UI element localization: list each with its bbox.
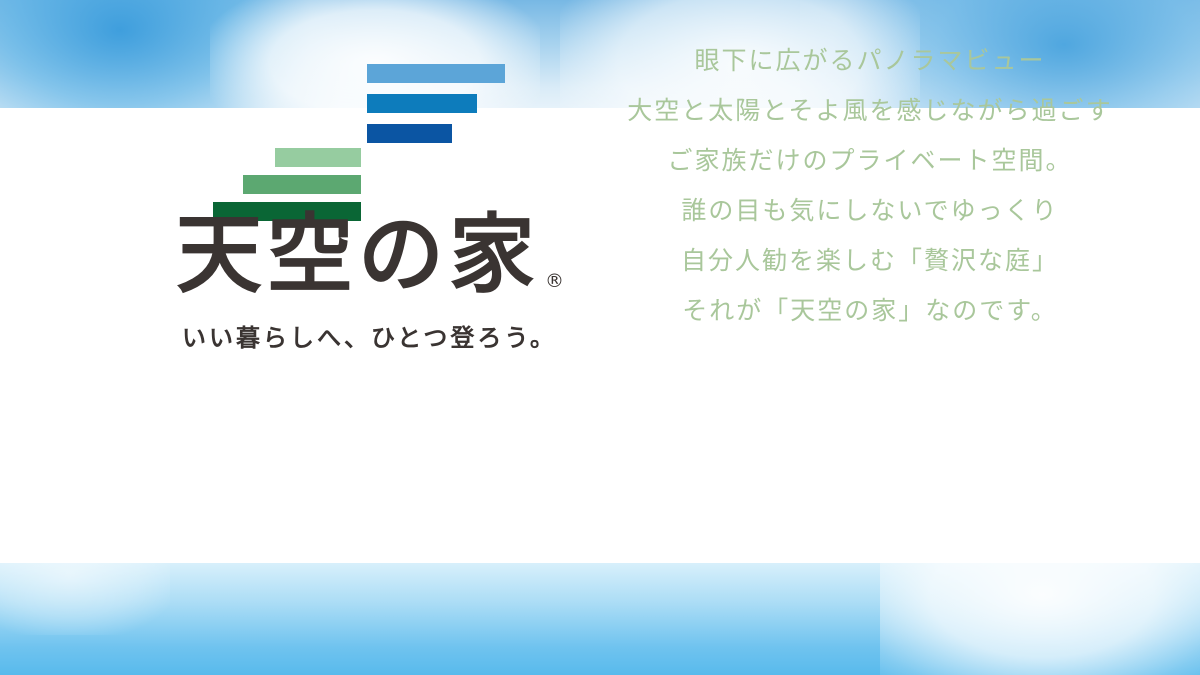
slide-canvas: 天空の家 ® いい暮らしへ、ひとつ登ろう。 眼下に広がるパノラマビュー 大空と太… <box>0 0 1200 675</box>
logo-stair-mark <box>175 60 535 208</box>
message-line: ご家族だけのプライベート空間。 <box>620 148 1120 173</box>
registered-trademark-icon: ® <box>545 272 564 291</box>
message-line: 自分人勧を楽しむ「贅沢な庭」 <box>620 248 1120 273</box>
logo-tagline: いい暮らしへ、ひとつ登ろう。 <box>182 318 570 353</box>
content-layout: 天空の家 ® いい暮らしへ、ひとつ登ろう。 眼下に広がるパノラマビュー 大空と太… <box>0 0 1200 675</box>
logo-bar-green-light <box>275 148 361 167</box>
message-line: 大空と太陽とそよ風を感じながら過ごす <box>620 98 1120 123</box>
message-line: 誰の目も気にしないでゆっくり <box>620 198 1120 223</box>
message-copy: 眼下に広がるパノラマビュー 大空と太陽とそよ風を感じながら過ごす ご家族だけのプ… <box>620 48 1120 323</box>
brand-logo: 天空の家 ® いい暮らしへ、ひとつ登ろう。 <box>170 60 570 353</box>
logo-wordmark: 天空の家 ® <box>176 212 570 298</box>
logo-bar-green-mid <box>243 175 361 194</box>
logo-bar-blue-light <box>367 64 505 83</box>
message-line: それが「天空の家」なのです。 <box>620 298 1120 323</box>
message-line: 眼下に広がるパノラマビュー <box>620 48 1120 73</box>
logo-bar-blue-dark <box>367 124 452 143</box>
logo-bar-blue-mid <box>367 94 477 113</box>
logo-wordmark-text: 天空の家 <box>176 212 540 298</box>
